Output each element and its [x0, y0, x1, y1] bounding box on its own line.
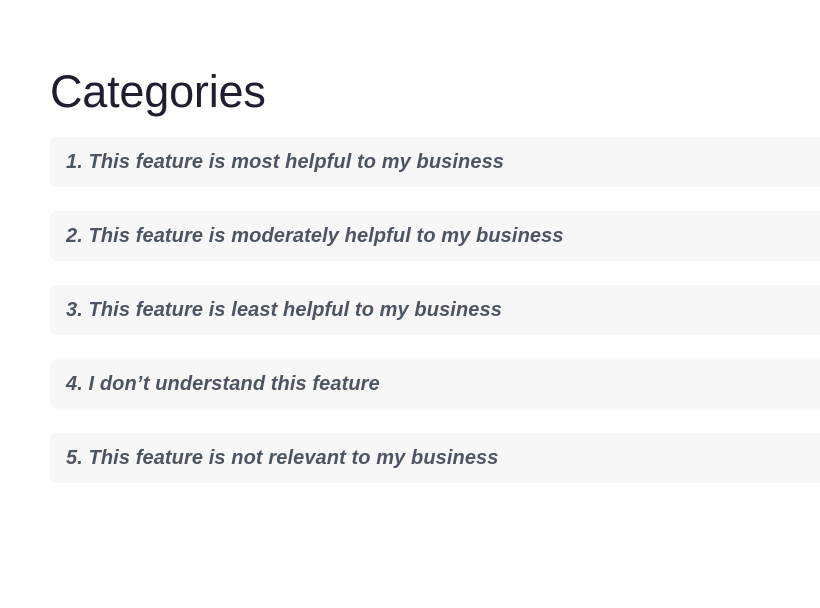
page-title: Categories: [50, 68, 266, 117]
list-item[interactable]: 4. I don’t understand this feature: [50, 359, 820, 409]
category-item-label: 2. This feature is moderately helpful to…: [66, 224, 564, 248]
category-item-label: 4. I don’t understand this feature: [66, 372, 380, 396]
category-item-label: 1. This feature is most helpful to my bu…: [66, 150, 504, 174]
list-item[interactable]: 2. This feature is moderately helpful to…: [50, 211, 820, 261]
category-item-label: 3. This feature is least helpful to my b…: [66, 298, 502, 322]
list-item[interactable]: 5. This feature is not relevant to my bu…: [50, 433, 820, 483]
category-item-label: 5. This feature is not relevant to my bu…: [66, 446, 499, 470]
page-root: Categories 1. This feature is most helpf…: [0, 0, 820, 608]
category-list: 1. This feature is most helpful to my bu…: [50, 137, 820, 483]
list-item[interactable]: 1. This feature is most helpful to my bu…: [50, 137, 820, 187]
list-item[interactable]: 3. This feature is least helpful to my b…: [50, 285, 820, 335]
